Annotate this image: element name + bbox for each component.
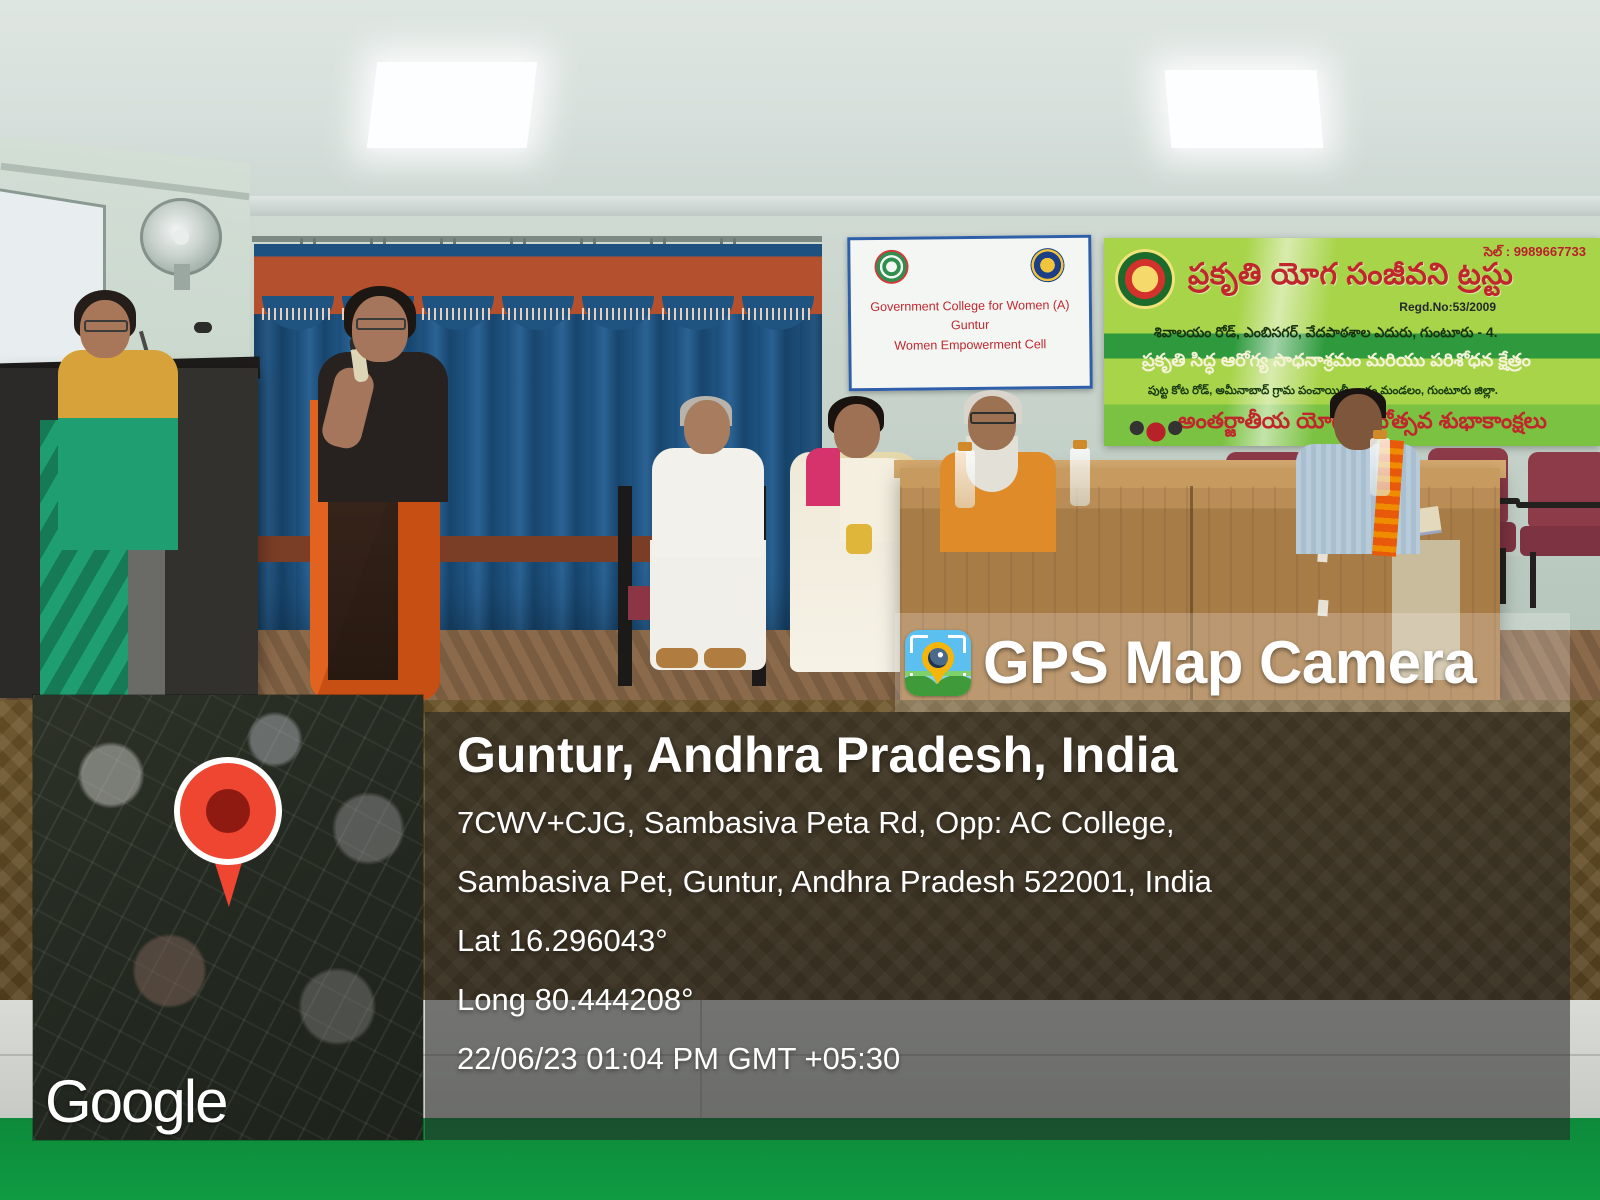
banner-trust-address-1: శివాలయం రోడ్, ఎంబిసగర్, వేదపాఠశాల ఎదురు,… [1154,324,1584,344]
gps-address-line-1: 7CWV+CJG, Sambasiva Peta Rd, Opp: AC Col… [457,805,1175,841]
gps-map-camera-icon [905,630,971,696]
trust-emblem-icon [1118,252,1172,306]
water-bottle [1070,448,1090,506]
gps-latitude: Lat 16.296043° [457,923,668,959]
fan-hub [173,228,189,245]
google-wordmark: Google [45,1067,226,1136]
gps-map-camera-header: GPS Map Camera [895,613,1570,712]
banner-college-line3: Women Empowerment Cell [851,335,1089,357]
curtain-rod [252,236,822,242]
banner-college-line2: Guntur [851,315,1089,337]
banner-trust-title: ప్రకృతి యోగ సంజీవని ట్రస్టు [1188,258,1592,299]
banner-logos [850,248,1088,284]
yoga-figures-icon [1124,404,1188,444]
wall-fan [140,198,222,276]
gps-map-camera-title: GPS Map Camera [983,628,1476,697]
govt-seal-icon [874,250,908,284]
water-bottle [955,450,975,508]
ceiling-light-right [1165,70,1324,148]
gps-address-line-2: Sambasiva Pet, Guntur, Andhra Pradesh 52… [457,864,1212,900]
map-thumbnail[interactable]: Google [33,695,423,1140]
ceiling-light-left [367,62,538,148]
banner-trust-regd: Regd.No:53/2009 [1399,300,1496,314]
photo-canvas: Government College for Women (A) Guntur … [0,0,1600,1200]
college-seal-icon [1030,248,1064,282]
microphone-head [194,322,212,333]
chair [1520,452,1600,602]
banner-college: Government College for Women (A) Guntur … [847,235,1093,392]
water-bottle [1370,438,1390,496]
gps-longitude: Long 80.444208° [457,982,694,1018]
wood-trim [230,536,660,562]
gps-place-name: Guntur, Andhra Pradesh, India [457,726,1177,784]
banner-trust-subtitle: ప్రకృతి సిద్ధ ఆరోగ్య సాధనాశ్రమం మరియు పర… [1142,350,1590,375]
banner-college-line1: Government College for Women (A) [851,296,1089,318]
curtain-valance [254,244,822,314]
gps-info-panel: Guntur, Andhra Pradesh, India 7CWV+CJG, … [425,712,1570,1140]
fan-mount [174,264,190,290]
gps-timestamp: 22/06/23 01:04 PM GMT +05:30 [457,1041,900,1077]
map-pin-icon [174,757,282,907]
